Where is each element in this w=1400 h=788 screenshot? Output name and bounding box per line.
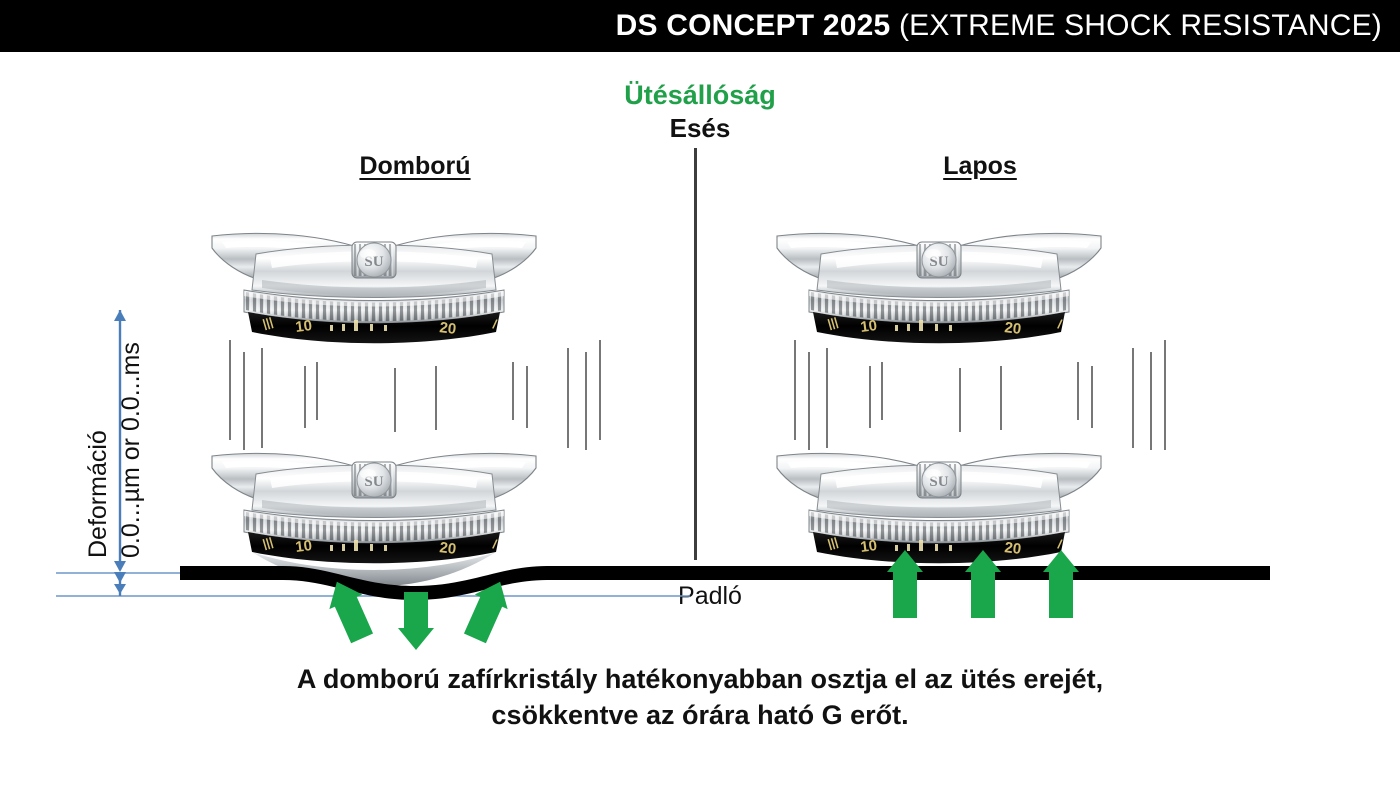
force-arrows-flat[interactable] [887,550,1079,618]
header-title-main: DS CONCEPT 2025 [616,9,891,42]
floor-label: Padló [610,582,810,611]
caption-line-1: A domború zafírkristály hatékonyabban os… [0,662,1400,698]
watch-flat-upper [777,233,1101,343]
drop-title: Esés [0,113,1400,144]
caption: A domború zafírkristály hatékonyabban os… [0,662,1400,733]
watch-convex-upper [212,233,536,343]
column-divider [694,148,697,560]
axis-group [56,310,690,596]
caption-line-2: csökkentve az órára ható G erőt. [0,698,1400,734]
column-header-flat: Lapos [830,152,1130,181]
header-title-paren: (EXTREME SHOCK RESISTANCE) [899,9,1382,42]
axis-label-units: 0.0...µm or 0.0...ms [117,342,146,558]
shock-resistance-title: Ütésállóság [0,80,1400,111]
header-bar: DS CONCEPT 2025 (EXTREME SHOCK RESISTANC… [0,0,1400,52]
motion-lines-flat [795,340,1165,450]
header-title: DS CONCEPT 2025 (EXTREME SHOCK RESISTANC… [616,9,1382,43]
motion-lines-convex [230,340,600,450]
watch-flat-lower [777,453,1101,563]
arrow-down-center [398,592,434,650]
force-arrows-convex[interactable] [320,574,516,650]
axis-label-deformation: Deformáció [84,430,113,558]
watch-convex-lower [212,453,536,586]
column-header-convex: Domború [265,152,565,181]
